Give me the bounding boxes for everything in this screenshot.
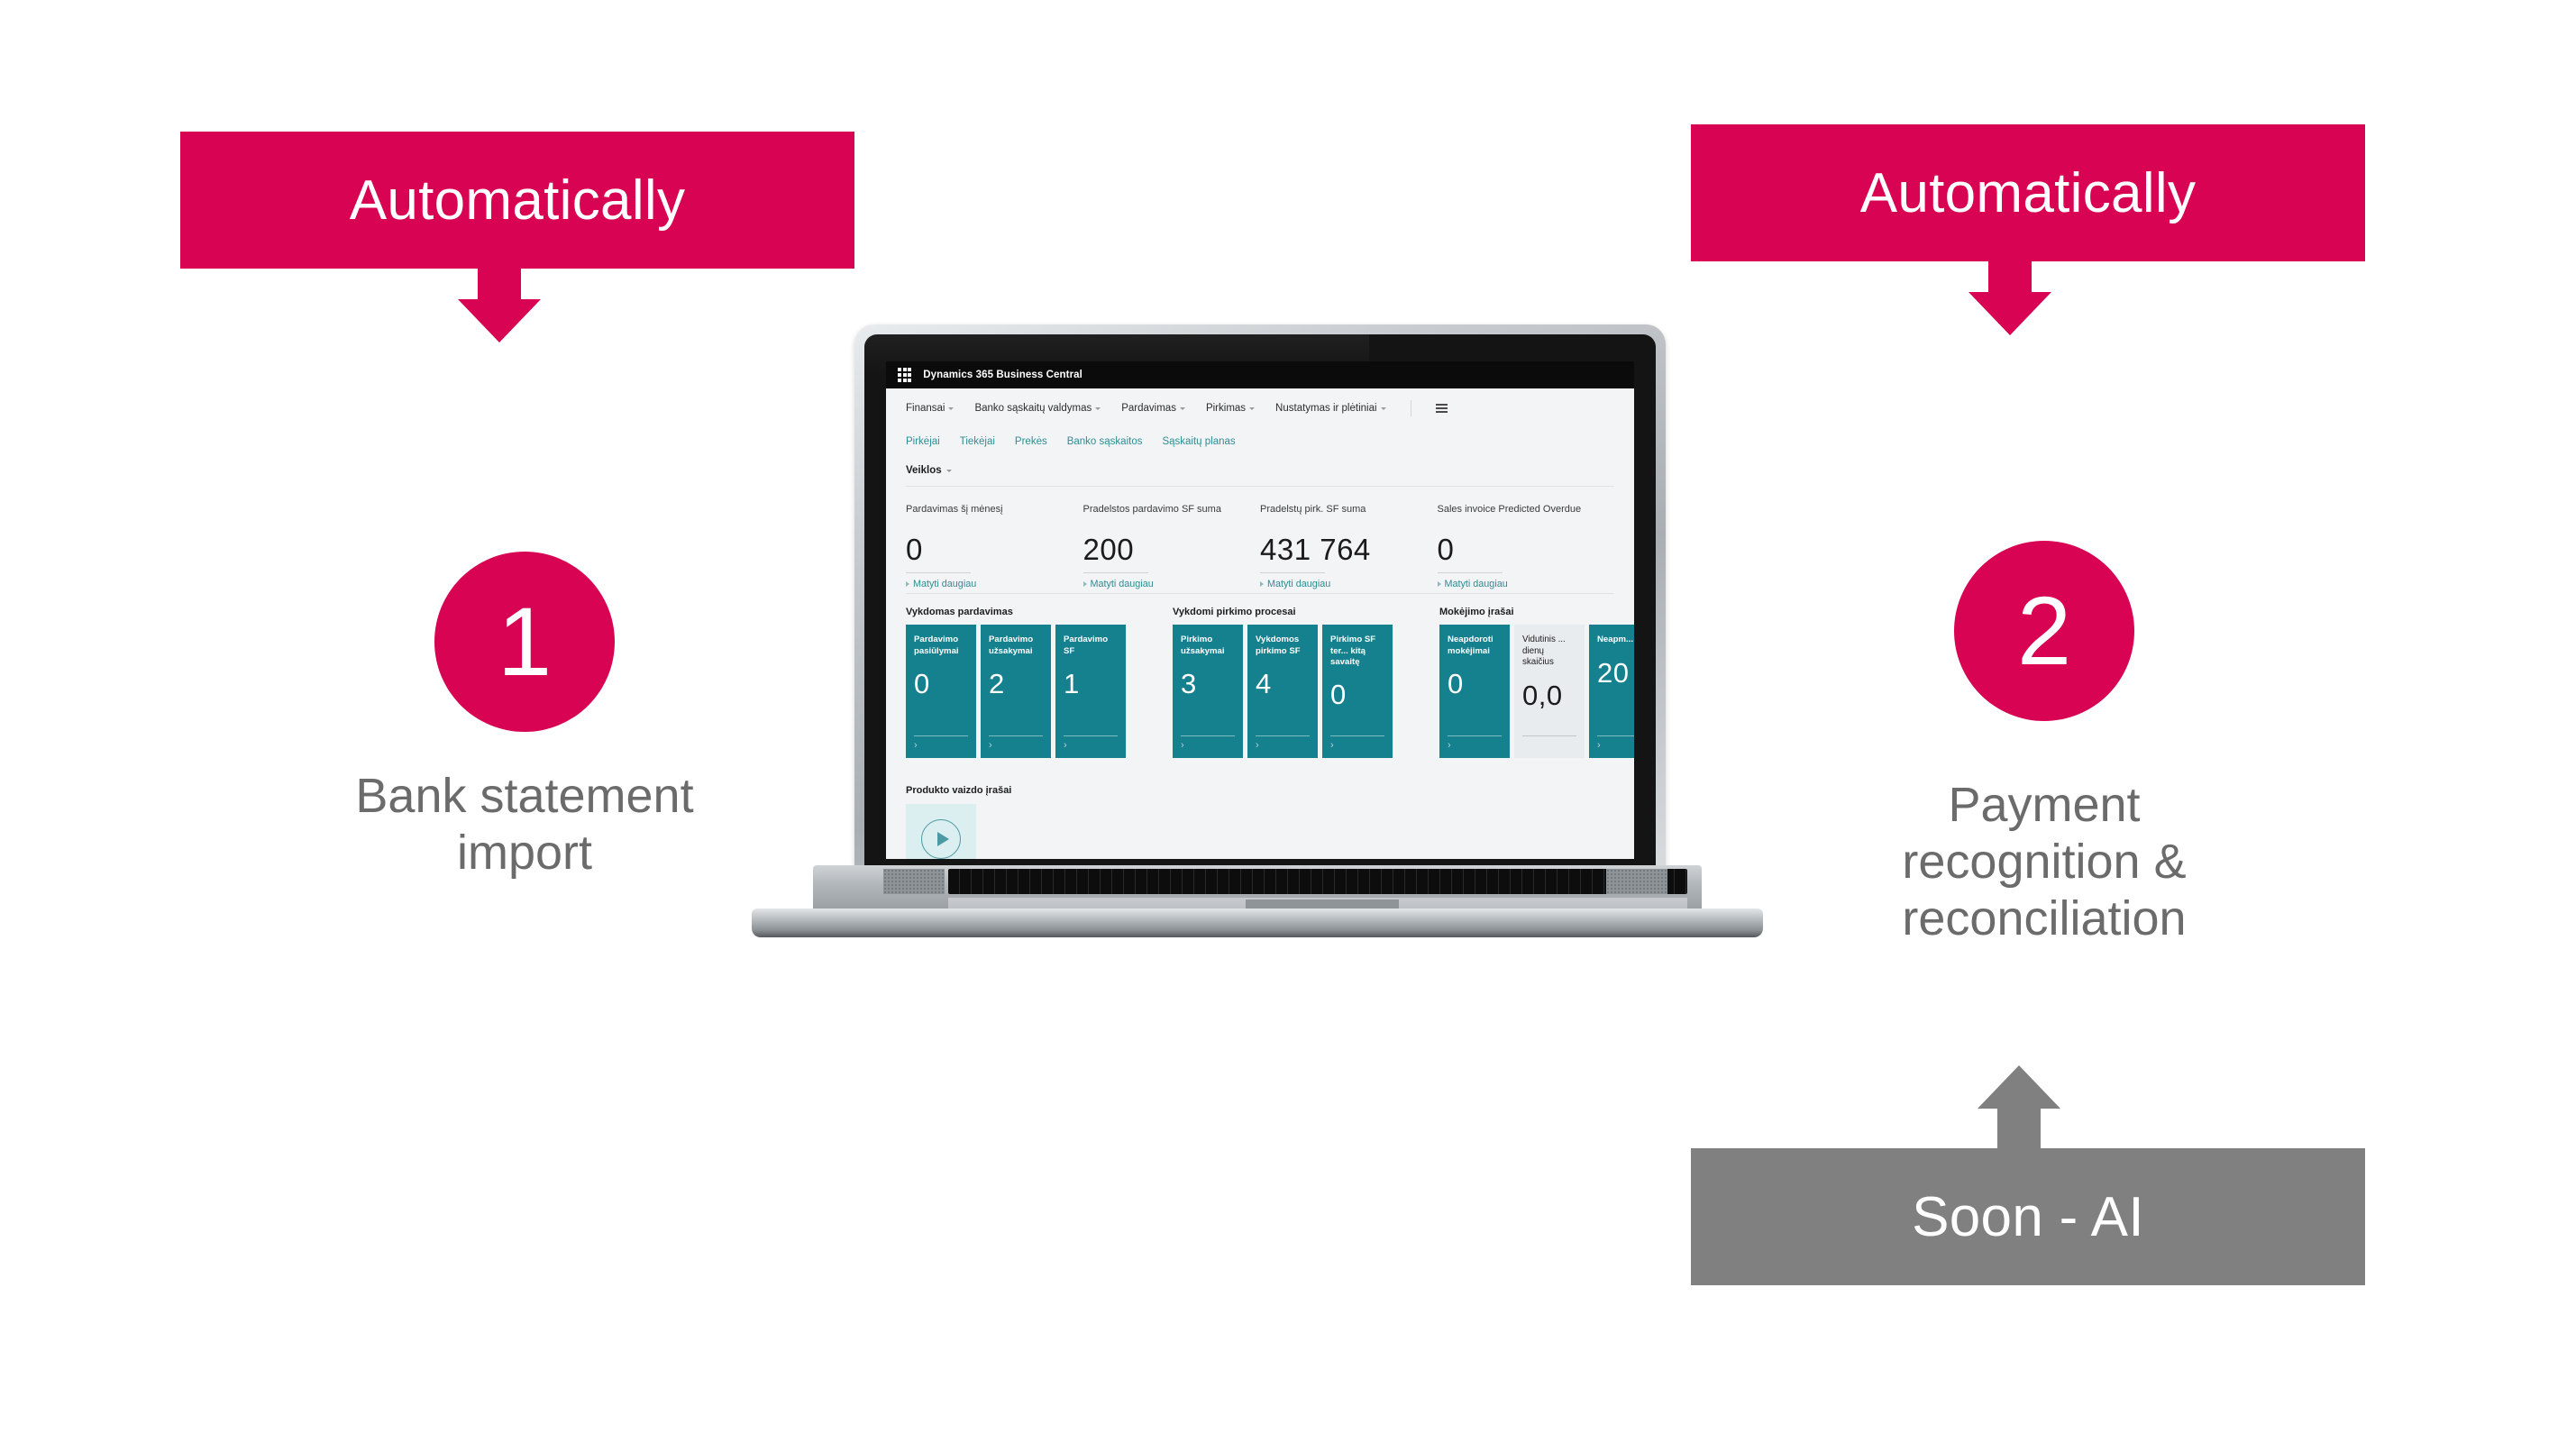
laptop-mockup: Dynamics 365 Business Central Finansai B…	[748, 324, 1767, 973]
tile-value: 4	[1256, 670, 1310, 698]
step-2-badge: 2	[1954, 541, 2134, 721]
quick-link-tiekejai[interactable]: Tiekėjai	[960, 436, 995, 447]
tile-rule	[1330, 735, 1384, 736]
step-2-caption-line2: recognition &	[1792, 834, 2297, 890]
callout-banner-soon-ai: Soon - AI	[1691, 1148, 2365, 1285]
tile-label: Pardavimo pasiūlymai	[914, 635, 968, 657]
step-1-caption-line2: import	[263, 825, 786, 881]
kpi-see-more-label: Matyti daugiau	[1267, 579, 1330, 589]
kpi-see-more-link[interactable]: Matyti daugiau	[1260, 579, 1438, 589]
tile-rule	[989, 735, 1043, 736]
step-1-number: 1	[498, 593, 552, 690]
kpi-card[interactable]: Pardavimas šį mėnesį 0 Matyti daugiau	[906, 503, 1083, 589]
laptop-front-edge	[752, 909, 1763, 937]
tile-group-mokejimo-irasai: Mokėjimo įrašai Neapdoroti mokėjimai 0 ›	[1439, 607, 1634, 758]
chevron-down-icon	[1381, 407, 1386, 410]
kpi-label: Pradelstų pirk. SF suma	[1260, 503, 1438, 530]
tile-pirkimo-sf-terminas[interactable]: Pirkimo SF ter... kitą savaitę 0 ›	[1322, 625, 1393, 758]
tile-value: 0	[1330, 680, 1384, 708]
video-section-title: Produkto vaizdo įrašai	[906, 785, 1614, 796]
chevron-right-icon	[1083, 581, 1087, 587]
laptop-lid: Dynamics 365 Business Central Finansai B…	[854, 324, 1666, 870]
tile-label: Pardavimo užsakymai	[989, 635, 1043, 657]
tile-pardavimo-sf[interactable]: Pardavimo SF 1 ›	[1055, 625, 1126, 758]
app-body: Finansai Banko sąskaitų valdymas Pardavi…	[886, 388, 1634, 859]
quick-link-saskaitu-planas[interactable]: Sąskaitų planas	[1162, 436, 1235, 447]
kpi-card[interactable]: Sales invoice Predicted Overdue 0 Matyti…	[1438, 503, 1615, 589]
section-header-veiklos[interactable]: Veiklos	[906, 455, 1614, 486]
step-1-caption-line1: Bank statement	[263, 768, 786, 825]
step-1-caption: Bank statement import	[263, 768, 786, 881]
nav-item-nustatymas-ir-pletiniai[interactable]: Nustatymas ir plėtiniai	[1275, 403, 1385, 414]
laptop-bezel: Dynamics 365 Business Central Finansai B…	[864, 334, 1656, 868]
step-2-number: 2	[2017, 582, 2071, 680]
chevron-right-icon: ›	[1181, 741, 1235, 751]
quick-link-pirkejai[interactable]: Pirkėjai	[906, 436, 940, 447]
nav-label: Pardavimas	[1121, 403, 1176, 414]
tile-rule	[1181, 735, 1235, 736]
nav-item-banko-saskaitu-valdymas[interactable]: Banko sąskaitų valdymas	[974, 403, 1101, 414]
kpi-value: 200	[1083, 534, 1261, 566]
laptop-keyboard	[948, 869, 1687, 894]
tile-group-title: Vykdomi pirkimo procesai	[1173, 607, 1393, 617]
chevron-right-icon	[1522, 741, 1576, 751]
app-launcher-icon[interactable]	[898, 368, 911, 381]
chevron-right-icon: ›	[1064, 741, 1118, 751]
slide-canvas: Automatically Automatically 1 Bank state…	[0, 0, 2576, 1452]
speaker-grille-left	[883, 869, 945, 894]
quick-links-row: Pirkėjai Tiekėjai Prekės Banko sąskaitos…	[906, 428, 1614, 455]
tile-label: Vykdomos pirkimo SF	[1256, 635, 1310, 657]
kpi-see-more-link[interactable]: Matyti daugiau	[906, 579, 1083, 589]
chevron-right-icon	[1438, 581, 1441, 587]
nav-label: Banko sąskaitų valdymas	[974, 403, 1092, 414]
app-top-bar: Dynamics 365 Business Central	[886, 361, 1634, 388]
kpi-label: Sales invoice Predicted Overdue	[1438, 503, 1615, 530]
kpi-card[interactable]: Pradelstos pardavimo SF suma 200 Matyti …	[1083, 503, 1261, 589]
play-icon	[921, 819, 961, 859]
app-title: Dynamics 365 Business Central	[923, 370, 1082, 380]
soon-ai-label: Soon - AI	[1912, 1185, 2144, 1249]
tile-groups: Vykdomas pardavimas Pardavimo pasiūlymai…	[906, 594, 1614, 758]
kpi-label: Pardavimas šį mėnesį	[906, 503, 1083, 530]
tile-neapdoroti-mokejimai[interactable]: Neapdoroti mokėjimai 0 ›	[1439, 625, 1510, 758]
speaker-grille-right	[1606, 869, 1667, 894]
kpi-value: 0	[906, 534, 1083, 566]
callout-left-label: Automatically	[350, 169, 686, 233]
tile-label: Pardavimo SF	[1064, 635, 1118, 657]
nav-divider	[1411, 400, 1411, 416]
tile-rule	[1597, 735, 1634, 736]
tile-value: 0	[1448, 670, 1502, 698]
step-2-caption-line3: reconciliation	[1792, 890, 2297, 947]
tile-label: Pirkimo SF ter... kitą savaitę	[1330, 635, 1384, 668]
step-1-badge: 1	[434, 552, 615, 732]
kpi-rule	[1260, 572, 1325, 573]
chevron-right-icon	[906, 581, 909, 587]
nav-item-pardavimas[interactable]: Pardavimas	[1121, 403, 1185, 414]
play-triangle	[937, 832, 949, 846]
step-2-caption: Payment recognition & reconciliation	[1792, 777, 2297, 948]
tile-pirkimo-uzsakymai[interactable]: Pirkimo užsakymai 3 ›	[1173, 625, 1243, 758]
kpi-see-more-link[interactable]: Matyti daugiau	[1083, 579, 1261, 589]
callout-banner-right: Automatically	[1691, 124, 2365, 261]
tile-rule	[1522, 735, 1576, 736]
tile-rule	[1256, 735, 1310, 736]
video-section: Produkto vaizdo įrašai Produkto vaizdo	[906, 758, 1614, 859]
tile-group-vykdomas-pardavimas: Vykdomas pardavimas Pardavimo pasiūlymai…	[906, 607, 1126, 758]
kpi-rule	[1083, 572, 1148, 573]
laptop-deck	[813, 865, 1702, 909]
step-2-caption-line1: Payment	[1792, 777, 2297, 834]
tile-vykdomos-pirkimo-sf[interactable]: Vykdomos pirkimo SF 4 ›	[1247, 625, 1318, 758]
tile-vidutinis-dienu-skaicius[interactable]: Vidutinis ... dienų skaičius 0,0	[1514, 625, 1585, 758]
kpi-see-more-label: Matyti daugiau	[1091, 579, 1154, 589]
tile-group-vykdomi-pirkimo-procesai: Vykdomi pirkimo procesai Pirkimo užsakym…	[1173, 607, 1393, 758]
kpi-row: Pardavimas šį mėnesį 0 Matyti daugiau Pr…	[906, 487, 1614, 593]
tile-row: Pardavimo pasiūlymai 0 › Pardavimo užsak…	[906, 625, 1126, 758]
quick-link-banko-saskaitos[interactable]: Banko sąskaitos	[1067, 436, 1143, 447]
arrow-stem-left	[478, 269, 521, 299]
tile-label: Vidutinis ... dienų skaičius	[1522, 635, 1576, 669]
kpi-rule	[1438, 572, 1503, 573]
nav-item-finansai[interactable]: Finansai	[906, 403, 954, 414]
chevron-down-icon	[1095, 407, 1101, 410]
arrow-up-icon	[1978, 1065, 2060, 1109]
app-nav-bar: Finansai Banko sąskaitų valdymas Pardavi…	[906, 388, 1614, 428]
chevron-right-icon	[1260, 581, 1264, 587]
kpi-value: 0	[1438, 534, 1615, 566]
arrow-stem-bottom	[1997, 1109, 2041, 1148]
tile-pardavimo-uzsakymai[interactable]: Pardavimo užsakymai 2 ›	[981, 625, 1051, 758]
arrow-down-right-icon	[1969, 292, 2051, 335]
kpi-value: 431 764	[1260, 534, 1438, 566]
chevron-right-icon: ›	[1256, 741, 1310, 751]
tile-group-title: Mokėjimo įrašai	[1439, 607, 1634, 617]
tile-rule	[1448, 735, 1502, 736]
callout-banner-left: Automatically	[180, 132, 854, 269]
chevron-down-icon	[1180, 407, 1185, 410]
kpi-see-more-label: Matyti daugiau	[913, 579, 976, 589]
tile-group-title: Vykdomas pardavimas	[906, 607, 1126, 617]
quick-link-prekes[interactable]: Prekės	[1015, 436, 1047, 447]
arrow-down-left-icon	[458, 299, 541, 342]
section-header-label: Veiklos	[906, 465, 942, 476]
tile-label: Pirkimo užsakymai	[1181, 635, 1235, 657]
tile-label: Neapm... SF	[1597, 635, 1634, 645]
kpi-see-more-label: Matyti daugiau	[1445, 579, 1508, 589]
hamburger-menu-icon[interactable]	[1436, 404, 1448, 412]
video-thumbnail[interactable]	[906, 804, 976, 859]
kpi-label: Pradelstos pardavimo SF suma	[1083, 503, 1261, 530]
tile-value: 3	[1181, 670, 1235, 698]
tile-rule	[1064, 735, 1118, 736]
chevron-right-icon: ›	[1330, 741, 1384, 751]
chevron-right-icon: ›	[1597, 741, 1634, 751]
chevron-right-icon: ›	[914, 741, 968, 751]
kpi-see-more-link[interactable]: Matyti daugiau	[1438, 579, 1615, 589]
tile-row: Pirkimo užsakymai 3 › Vykdomos pirkimo S…	[1173, 625, 1393, 758]
nav-label: Finansai	[906, 403, 945, 414]
chevron-down-icon	[948, 407, 954, 410]
chevron-down-icon	[946, 470, 952, 472]
chevron-right-icon: ›	[1448, 741, 1502, 751]
chevron-right-icon: ›	[989, 741, 1043, 751]
laptop-base	[752, 865, 1763, 927]
tile-value: 1	[1064, 670, 1118, 698]
tile-value: 0	[914, 670, 968, 698]
tile-pardavimo-pasiulymai[interactable]: Pardavimo pasiūlymai 0 ›	[906, 625, 976, 758]
tile-value: 0,0	[1522, 681, 1576, 709]
tile-value: 2	[989, 670, 1043, 698]
tile-label: Neapdoroti mokėjimai	[1448, 635, 1502, 657]
kpi-card[interactable]: Pradelstų pirk. SF suma 431 764 Matyti d…	[1260, 503, 1438, 589]
tile-row: Neapdoroti mokėjimai 0 › Vidutinis ... d…	[1439, 625, 1634, 758]
tile-rule	[914, 735, 968, 736]
laptop-screen: Dynamics 365 Business Central Finansai B…	[886, 361, 1634, 859]
tile-neapmoketos-sf[interactable]: Neapm... SF 20 ›	[1589, 625, 1634, 758]
kpi-rule	[906, 572, 971, 573]
arrow-stem-right	[1988, 261, 2032, 292]
nav-item-pirkimas[interactable]: Pirkimas	[1206, 403, 1255, 414]
callout-right-label: Automatically	[1860, 161, 2197, 225]
tile-value: 20	[1597, 659, 1634, 687]
nav-label: Pirkimas	[1206, 403, 1246, 414]
nav-label: Nustatymas ir plėtiniai	[1275, 403, 1376, 414]
chevron-down-icon	[1249, 407, 1255, 410]
